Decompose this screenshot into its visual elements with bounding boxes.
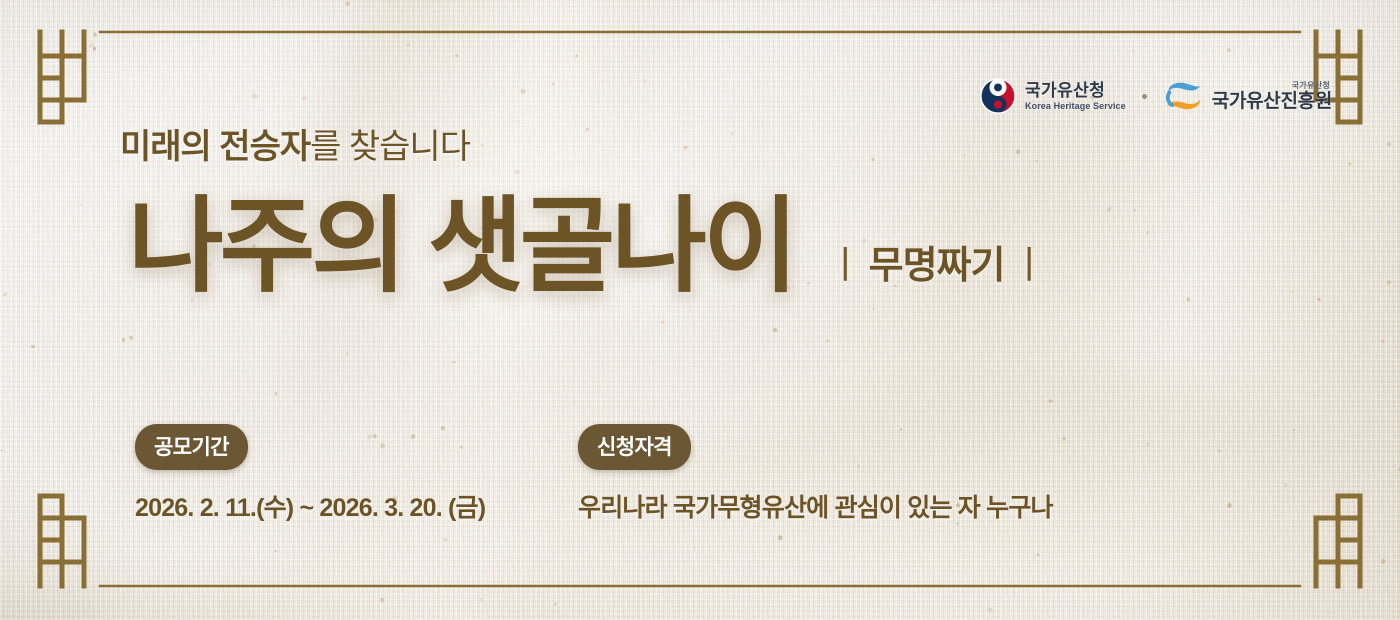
tag-label: 무명짜기 <box>869 245 1005 287</box>
tag-bar-right: ㅣ <box>1004 245 1052 287</box>
logo-korea-heritage-service[interactable]: 국가유산청 Korea Heritage Service <box>980 78 1126 114</box>
banner-title-row: 나주의 샛골나이 ㅣ무명짜기ㅣ <box>128 195 1052 299</box>
swirl-wave-icon <box>1163 79 1203 113</box>
banner-info-row: 공모기간 2026. 2. 11.(수) ~ 2026. 3. 20. (금) … <box>135 424 1178 524</box>
tag-bar-left: ㅣ <box>821 245 869 287</box>
logo-khs-name-ko: 국가유산청 <box>1025 82 1126 99</box>
logo-korea-heritage-agency[interactable]: 국가유산청 국가유산진흥원 <box>1163 79 1332 113</box>
banner-subtitle: 미래의 전승자를 찾습니다 <box>120 128 470 167</box>
application-period-value: 2026. 2. 11.(수) ~ 2026. 3. 20. (금) <box>135 488 578 524</box>
logo-khf-parent-name: 국가유산청 <box>1292 82 1330 90</box>
taegeuk-emblem-icon <box>980 78 1016 114</box>
badge-application-period: 공모기간 <box>135 424 248 470</box>
banner-main-title: 나주의 샛골나이 <box>128 195 795 299</box>
logo-group: 국가유산청 Korea Heritage Service 국가유산청 국가유산진… <box>980 78 1332 114</box>
subtitle-strong: 미래의 전승자 <box>120 128 310 166</box>
subtitle-light: 를 찾습니다 <box>310 128 470 166</box>
heritage-recruitment-banner: 국가유산청 Korea Heritage Service 국가유산청 국가유산진… <box>0 0 1400 620</box>
logo-khs-name-en: Korea Heritage Service <box>1025 102 1126 111</box>
logo-separator-dot <box>1142 94 1147 99</box>
logo-khf-name-ko: 국가유산진흥원 <box>1212 92 1332 111</box>
info-block-application-period: 공모기간 2026. 2. 11.(수) ~ 2026. 3. 20. (금) <box>135 424 578 524</box>
banner-title-tag: ㅣ무명짜기ㅣ <box>821 247 1053 299</box>
badge-eligibility: 신청자격 <box>578 424 691 470</box>
eligibility-value: 우리나라 국가무형유산에 관심이 있는 자 누구나 <box>578 488 1178 524</box>
info-block-eligibility: 신청자격 우리나라 국가무형유산에 관심이 있는 자 누구나 <box>578 424 1178 524</box>
